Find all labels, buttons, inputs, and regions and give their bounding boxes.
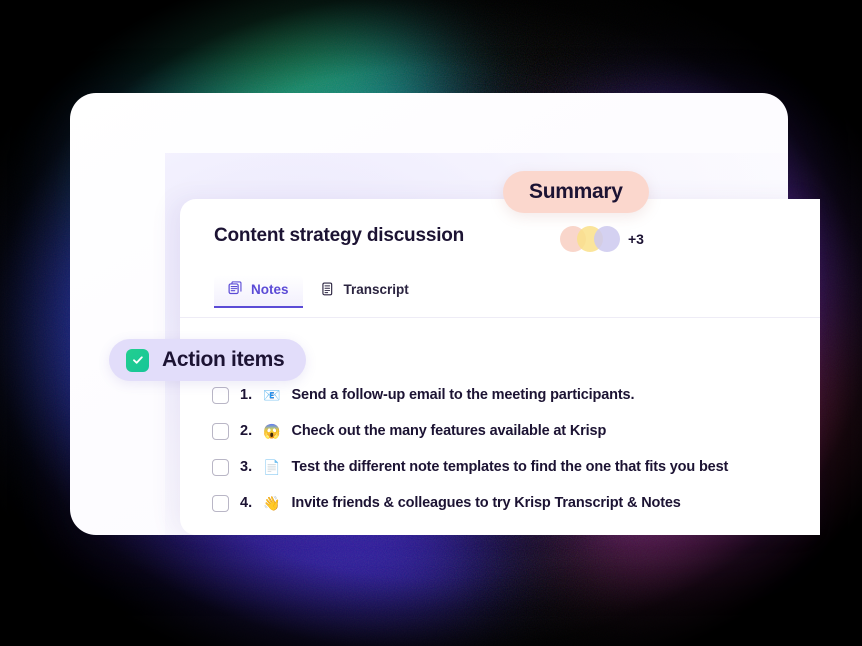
list-item[interactable]: 1. 📧 Send a follow-up email to the meeti… bbox=[212, 377, 820, 413]
item-checkbox[interactable] bbox=[212, 423, 229, 440]
screenshot-stage: Content strategy discussion Notes bbox=[0, 0, 862, 646]
avatar-overflow-count: +3 bbox=[628, 231, 644, 247]
item-checkbox[interactable] bbox=[212, 495, 229, 512]
summary-badge[interactable]: Summary bbox=[503, 171, 649, 213]
item-number: 2. bbox=[240, 423, 252, 439]
transcript-document-icon bbox=[321, 281, 336, 297]
item-number: 4. bbox=[240, 495, 252, 511]
item-text: Send a follow-up email to the meeting pa… bbox=[292, 387, 635, 403]
item-text: Test the different note templates to fin… bbox=[292, 459, 729, 475]
item-text: Invite friends & colleagues to try Krisp… bbox=[292, 495, 681, 511]
action-items-list: 1. 📧 Send a follow-up email to the meeti… bbox=[212, 377, 820, 521]
item-number: 1. bbox=[240, 387, 252, 403]
checkbox-checked-icon bbox=[126, 349, 149, 372]
action-items-label: Action items bbox=[162, 348, 284, 372]
tab-transcript[interactable]: Transcript bbox=[307, 275, 423, 308]
screaming-face-emoji: 😱 bbox=[263, 424, 280, 438]
item-number: 3. bbox=[240, 459, 252, 475]
item-checkbox[interactable] bbox=[212, 387, 229, 404]
page-title: Content strategy discussion bbox=[214, 225, 464, 247]
tab-notes[interactable]: Notes bbox=[214, 275, 303, 308]
avatar bbox=[594, 226, 620, 252]
sticky-note-icon bbox=[228, 281, 243, 297]
page-emoji: 📄 bbox=[263, 460, 280, 474]
tab-notes-label: Notes bbox=[251, 282, 289, 297]
item-text: Check out the many features available at… bbox=[292, 423, 607, 439]
list-item[interactable]: 4. 👋 Invite friends & colleagues to try … bbox=[212, 485, 820, 521]
note-tabs: Notes Transcript bbox=[214, 275, 423, 308]
email-emoji: 📧 bbox=[263, 388, 280, 402]
tab-transcript-label: Transcript bbox=[344, 282, 409, 297]
note-header: Content strategy discussion Notes bbox=[180, 199, 820, 318]
list-item[interactable]: 2. 😱 Check out the many features availab… bbox=[212, 413, 820, 449]
waving-hand-emoji: 👋 bbox=[263, 496, 280, 510]
list-item[interactable]: 3. 📄 Test the different note templates t… bbox=[212, 449, 820, 485]
participant-avatars[interactable]: +3 bbox=[560, 226, 644, 252]
action-items-badge[interactable]: Action items bbox=[109, 339, 306, 381]
item-checkbox[interactable] bbox=[212, 459, 229, 476]
